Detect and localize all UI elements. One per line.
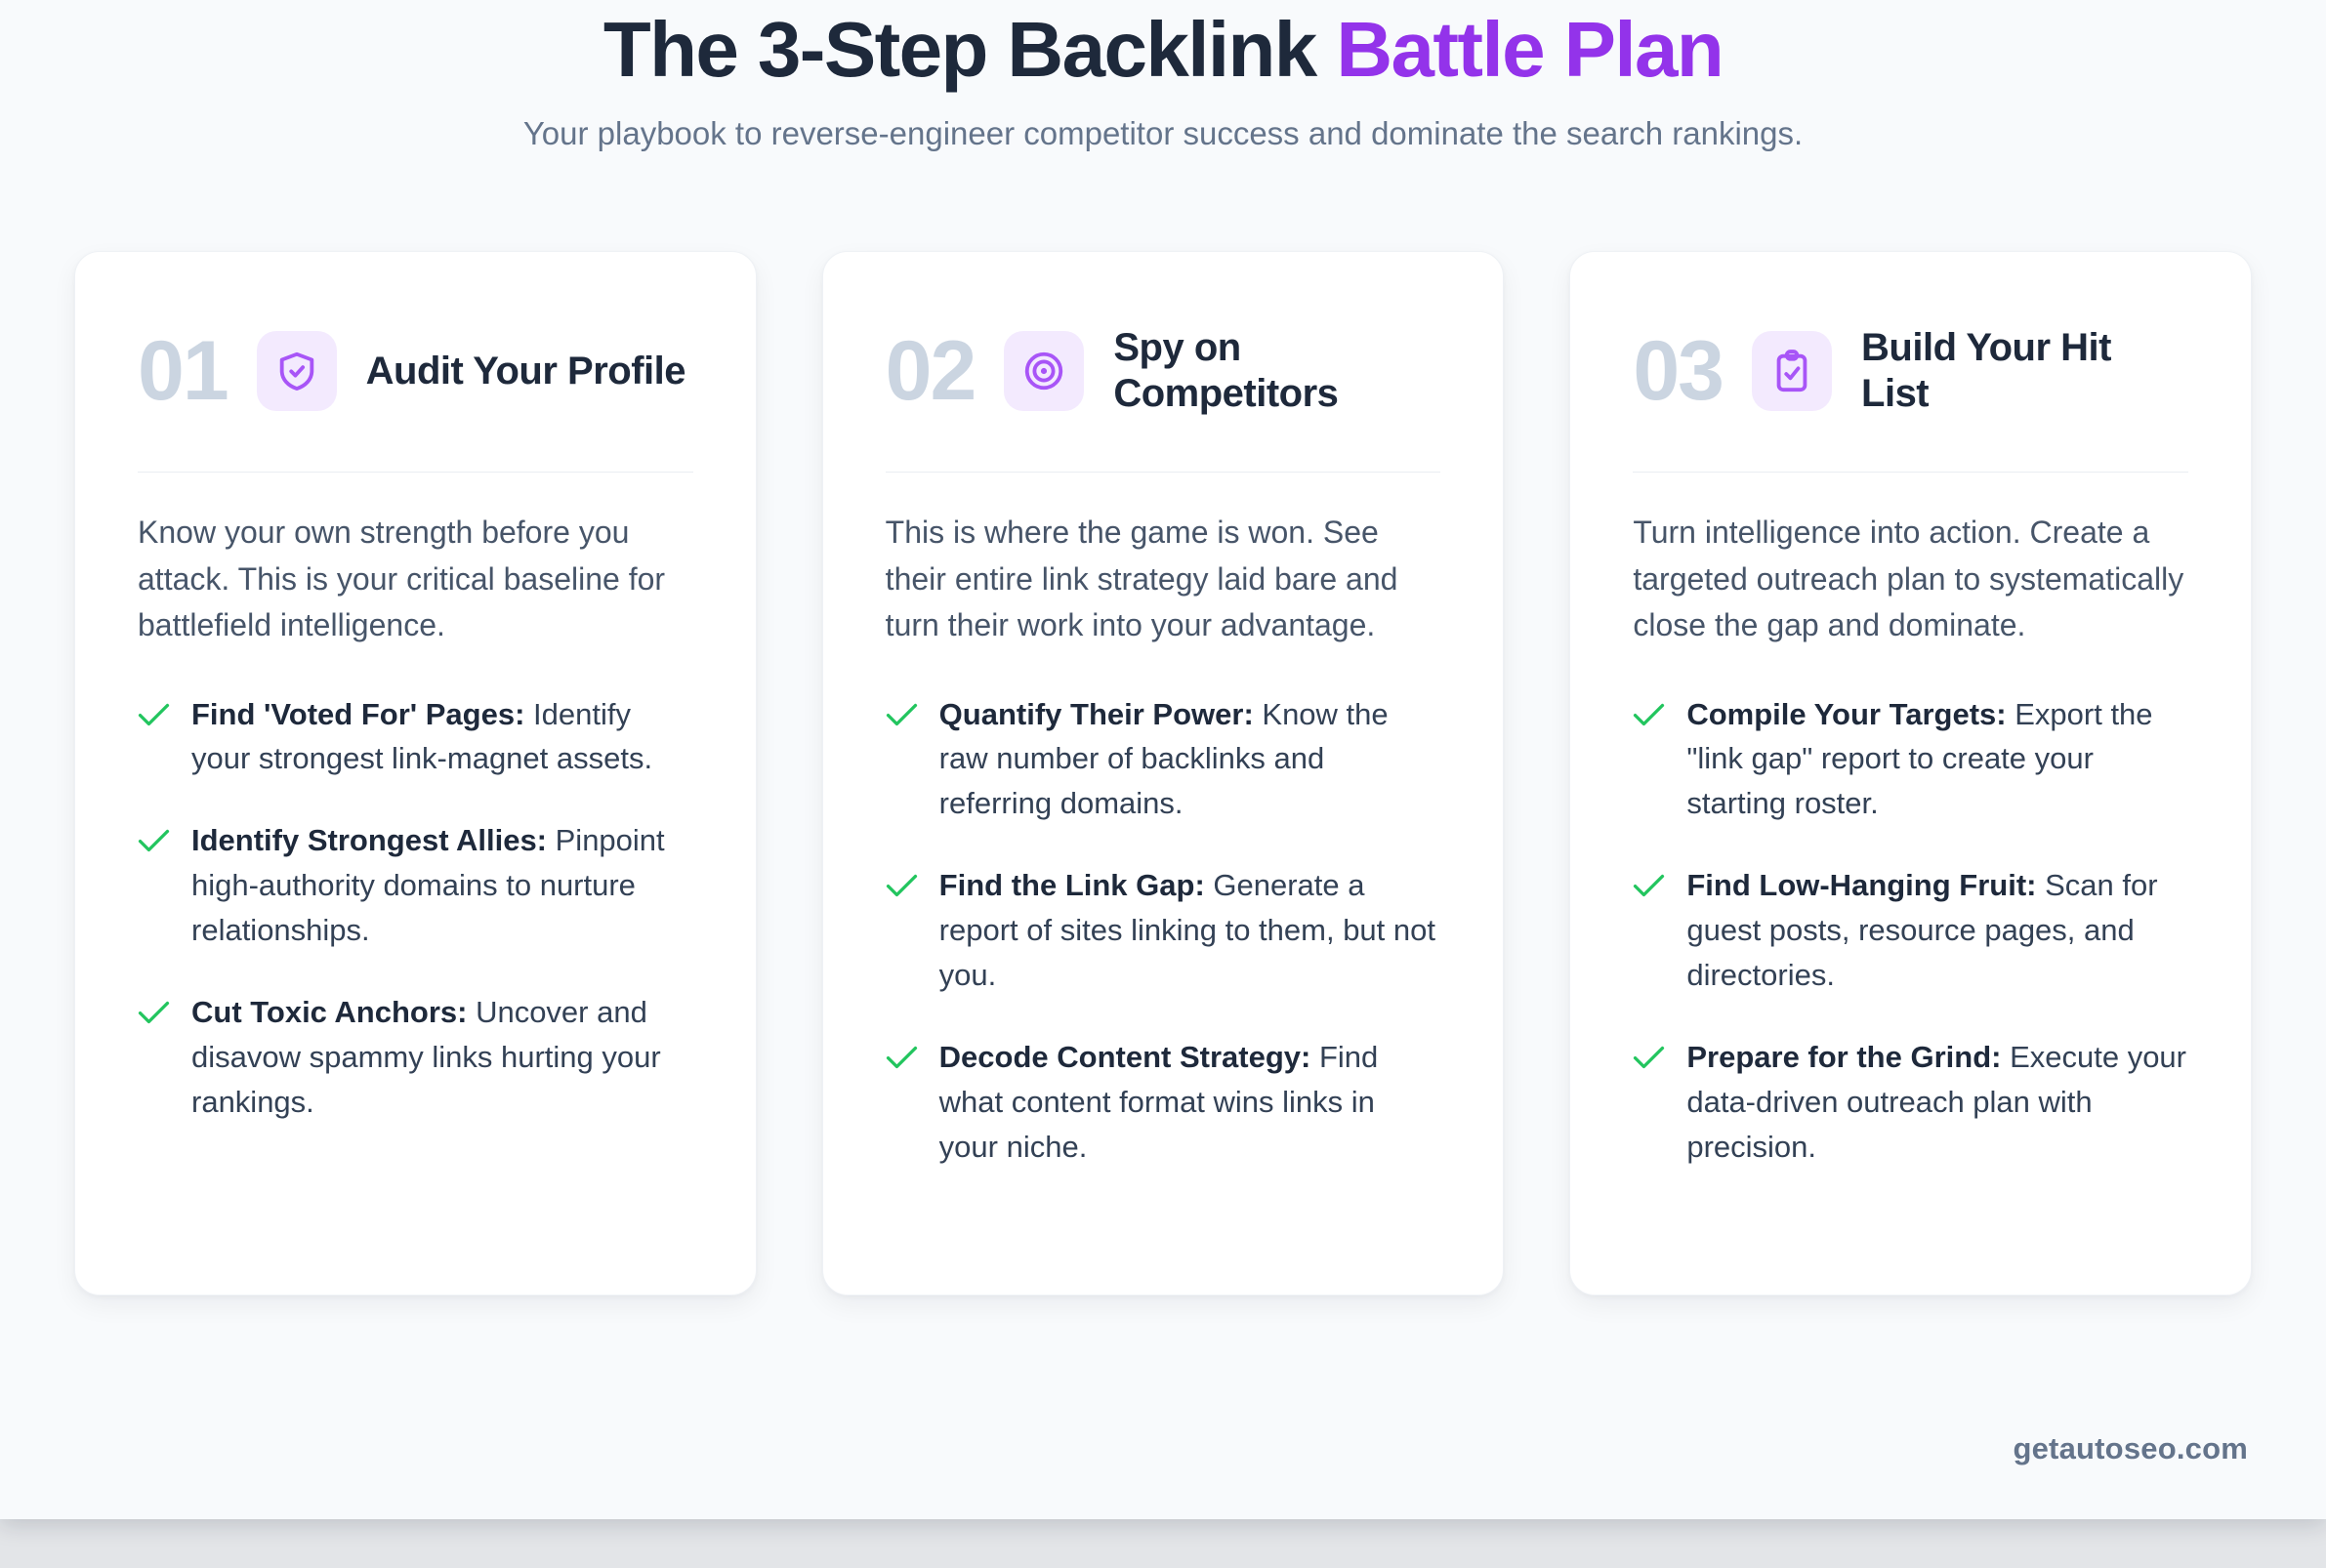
list-item: Decode Content Strategy: Find what conte…: [886, 1035, 1441, 1170]
check-icon: [1633, 863, 1665, 998]
list-item-text: Prepare for the Grind: Execute your data…: [1686, 1035, 2188, 1170]
card-title: Build Your Hit List: [1861, 325, 2188, 417]
step-number: 01: [138, 329, 228, 413]
check-icon: [138, 692, 170, 782]
list-item: Cut Toxic Anchors: Uncover and disavow s…: [138, 990, 693, 1125]
card-header: 03 Build Your Hit List: [1633, 309, 2188, 433]
card-checklist: Quantify Their Power: Know the raw numbe…: [886, 692, 1441, 1170]
check-icon: [138, 818, 170, 953]
card-description: Know your own strength before you attack…: [138, 510, 693, 648]
list-item: Find 'Voted For' Pages: Identify your st…: [138, 692, 693, 782]
check-icon: [886, 692, 918, 827]
card-checklist: Compile Your Targets: Export the "link g…: [1633, 692, 2188, 1170]
check-icon: [1633, 1035, 1665, 1170]
list-item-lead: Find 'Voted For' Pages:: [191, 697, 524, 731]
target-icon: [1021, 349, 1066, 393]
list-item-lead: Compile Your Targets:: [1686, 697, 2006, 731]
step-number: 02: [886, 329, 976, 413]
step-card-01: 01 Audit Your Profile Know your own stre…: [74, 251, 757, 1296]
list-item-lead: Quantify Their Power:: [939, 697, 1254, 731]
card-divider: [886, 472, 1441, 473]
list-item: Quantify Their Power: Know the raw numbe…: [886, 692, 1441, 827]
list-item-text: Quantify Their Power: Know the raw numbe…: [939, 692, 1441, 827]
clipboard-check-icon: [1769, 349, 1814, 393]
list-item-text: Compile Your Targets: Export the "link g…: [1686, 692, 2188, 827]
card-title: Spy on Competitors: [1113, 325, 1440, 417]
list-item-text: Find 'Voted For' Pages: Identify your st…: [191, 692, 693, 782]
list-item-lead: Decode Content Strategy:: [939, 1040, 1311, 1074]
infographic-page: The 3-Step Backlink Battle Plan Your pla…: [0, 0, 2326, 1519]
list-item-text: Find Low-Hanging Fruit: Scan for guest p…: [1686, 863, 2188, 998]
list-item-lead: Identify Strongest Allies:: [191, 823, 547, 857]
step-card-03: 03 Build Your Hit List Turn intelligence…: [1569, 251, 2252, 1296]
check-icon: [138, 990, 170, 1125]
page-subtitle: Your playbook to reverse-engineer compet…: [436, 111, 1890, 157]
list-item-lead: Find Low-Hanging Fruit:: [1686, 868, 2036, 902]
card-description: Turn intelligence into action. Create a …: [1633, 510, 2188, 648]
card-divider: [1633, 472, 2188, 473]
list-item-lead: Cut Toxic Anchors:: [191, 995, 467, 1029]
card-header: 02 Spy on Competitors: [886, 309, 1441, 433]
list-item-lead: Find the Link Gap:: [939, 868, 1205, 902]
target-icon-badge: [1004, 331, 1084, 411]
step-card-grid: 01 Audit Your Profile Know your own stre…: [0, 156, 2326, 1296]
list-item: Find Low-Hanging Fruit: Scan for guest p…: [1633, 863, 2188, 998]
card-description: This is where the game is won. See their…: [886, 510, 1441, 648]
list-item-text: Cut Toxic Anchors: Uncover and disavow s…: [191, 990, 693, 1125]
list-item-text: Find the Link Gap: Generate a report of …: [939, 863, 1441, 998]
page-title-plain: The 3-Step Backlink: [603, 6, 1336, 93]
card-header: 01 Audit Your Profile: [138, 309, 693, 433]
step-number: 03: [1633, 329, 1723, 413]
hero-header: The 3-Step Backlink Battle Plan Your pla…: [0, 0, 2326, 156]
site-watermark: getautoseo.com: [2013, 1431, 2248, 1466]
card-title: Audit Your Profile: [366, 349, 685, 394]
card-checklist: Find 'Voted For' Pages: Identify your st…: [138, 692, 693, 1125]
clipboard-check-icon-badge: [1752, 331, 1832, 411]
shield-check-icon: [274, 349, 319, 393]
list-item: Find the Link Gap: Generate a report of …: [886, 863, 1441, 998]
page-title: The 3-Step Backlink Battle Plan: [0, 6, 2326, 94]
list-item: Identify Strongest Allies: Pinpoint high…: [138, 818, 693, 953]
check-icon: [886, 1035, 918, 1170]
list-item: Compile Your Targets: Export the "link g…: [1633, 692, 2188, 827]
list-item-lead: Prepare for the Grind:: [1686, 1040, 2001, 1074]
shield-check-icon-badge: [257, 331, 337, 411]
list-item-text: Identify Strongest Allies: Pinpoint high…: [191, 818, 693, 953]
check-icon: [1633, 692, 1665, 827]
check-icon: [886, 863, 918, 998]
list-item-text: Decode Content Strategy: Find what conte…: [939, 1035, 1441, 1170]
card-divider: [138, 472, 693, 473]
list-item: Prepare for the Grind: Execute your data…: [1633, 1035, 2188, 1170]
step-card-02: 02 Spy on Competitors This is where the …: [822, 251, 1505, 1296]
page-title-accent: Battle Plan: [1336, 6, 1723, 93]
